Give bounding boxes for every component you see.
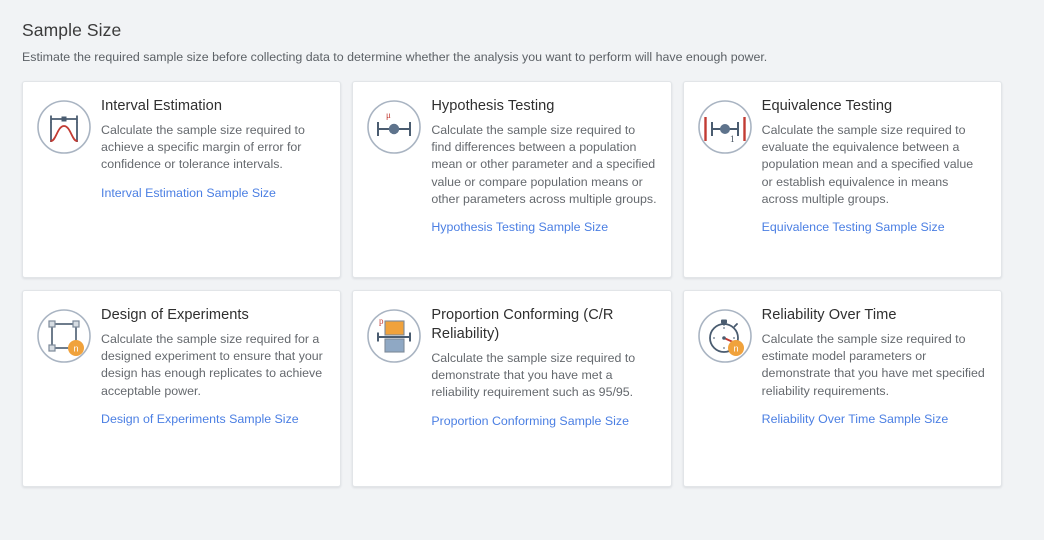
card-description: Calculate the sample size required for a…	[101, 331, 326, 400]
card-body: Interval Estimation Calculate the sample…	[101, 96, 326, 267]
icon-label-one: 1	[730, 134, 735, 144]
icon-badge-n: n	[733, 344, 738, 354]
card-title: Design of Experiments	[101, 306, 326, 325]
card-design-of-experiments[interactable]: n Design of Experiments Calculate the sa…	[22, 290, 341, 487]
card-equivalence-testing[interactable]: 1 Equivalence Testing Calculate the samp…	[683, 81, 1002, 278]
design-of-experiments-icon: n	[35, 307, 93, 365]
link-design-of-experiments-sample-size[interactable]: Design of Experiments Sample Size	[101, 411, 299, 427]
link-interval-estimation-sample-size[interactable]: Interval Estimation Sample Size	[101, 185, 276, 201]
card-interval-estimation[interactable]: Interval Estimation Calculate the sample…	[22, 81, 341, 278]
card-reliability-over-time[interactable]: n Reliability Over Time Calculate the sa…	[683, 290, 1002, 487]
card-title: Interval Estimation	[101, 97, 326, 116]
reliability-over-time-icon: n	[696, 307, 754, 365]
card-description: Calculate the sample size required to ac…	[101, 122, 326, 174]
equivalence-testing-icon: 1	[696, 98, 754, 156]
page-title: Sample Size	[22, 20, 1044, 40]
link-hypothesis-testing-sample-size[interactable]: Hypothesis Testing Sample Size	[431, 219, 608, 235]
sample-size-card-grid: Interval Estimation Calculate the sample…	[22, 81, 1002, 487]
card-description: Calculate the sample size required to ev…	[762, 122, 987, 208]
page-subtitle: Estimate the required sample size before…	[22, 49, 1044, 65]
proportion-conforming-icon: p	[365, 307, 423, 365]
card-body: Equivalence Testing Calculate the sample…	[762, 96, 987, 267]
icon-label-mu: μ	[386, 110, 391, 120]
link-proportion-conforming-sample-size[interactable]: Proportion Conforming Sample Size	[431, 413, 629, 429]
card-body: Proportion Conforming (C/R Reliability) …	[431, 305, 656, 476]
card-title: Reliability Over Time	[762, 306, 987, 325]
icon-badge-n: n	[73, 344, 78, 354]
page-header: Sample Size Estimate the required sample…	[0, 0, 1044, 65]
sample-size-page: Sample Size Estimate the required sample…	[0, 0, 1044, 540]
card-title: Equivalence Testing	[762, 97, 987, 116]
card-description: Calculate the sample size required to es…	[762, 331, 987, 400]
card-body: Reliability Over Time Calculate the samp…	[762, 305, 987, 476]
icon-label-p: p	[379, 316, 384, 326]
card-body: Hypothesis Testing Calculate the sample …	[431, 96, 656, 267]
link-equivalence-testing-sample-size[interactable]: Equivalence Testing Sample Size	[762, 219, 945, 235]
hypothesis-testing-icon: μ	[365, 98, 423, 156]
link-reliability-over-time-sample-size[interactable]: Reliability Over Time Sample Size	[762, 411, 949, 427]
card-description: Calculate the sample size required to fi…	[431, 122, 656, 208]
interval-estimation-icon	[35, 98, 93, 156]
card-title: Proportion Conforming (C/R Reliability)	[431, 306, 656, 344]
card-hypothesis-testing[interactable]: μ Hypothesis Testing Calculate the sampl…	[352, 81, 671, 278]
card-title: Hypothesis Testing	[431, 97, 656, 116]
card-proportion-conforming[interactable]: p Proportion Conforming (C/R Reliability…	[352, 290, 671, 487]
card-body: Design of Experiments Calculate the samp…	[101, 305, 326, 476]
card-description: Calculate the sample size required to de…	[431, 350, 656, 402]
